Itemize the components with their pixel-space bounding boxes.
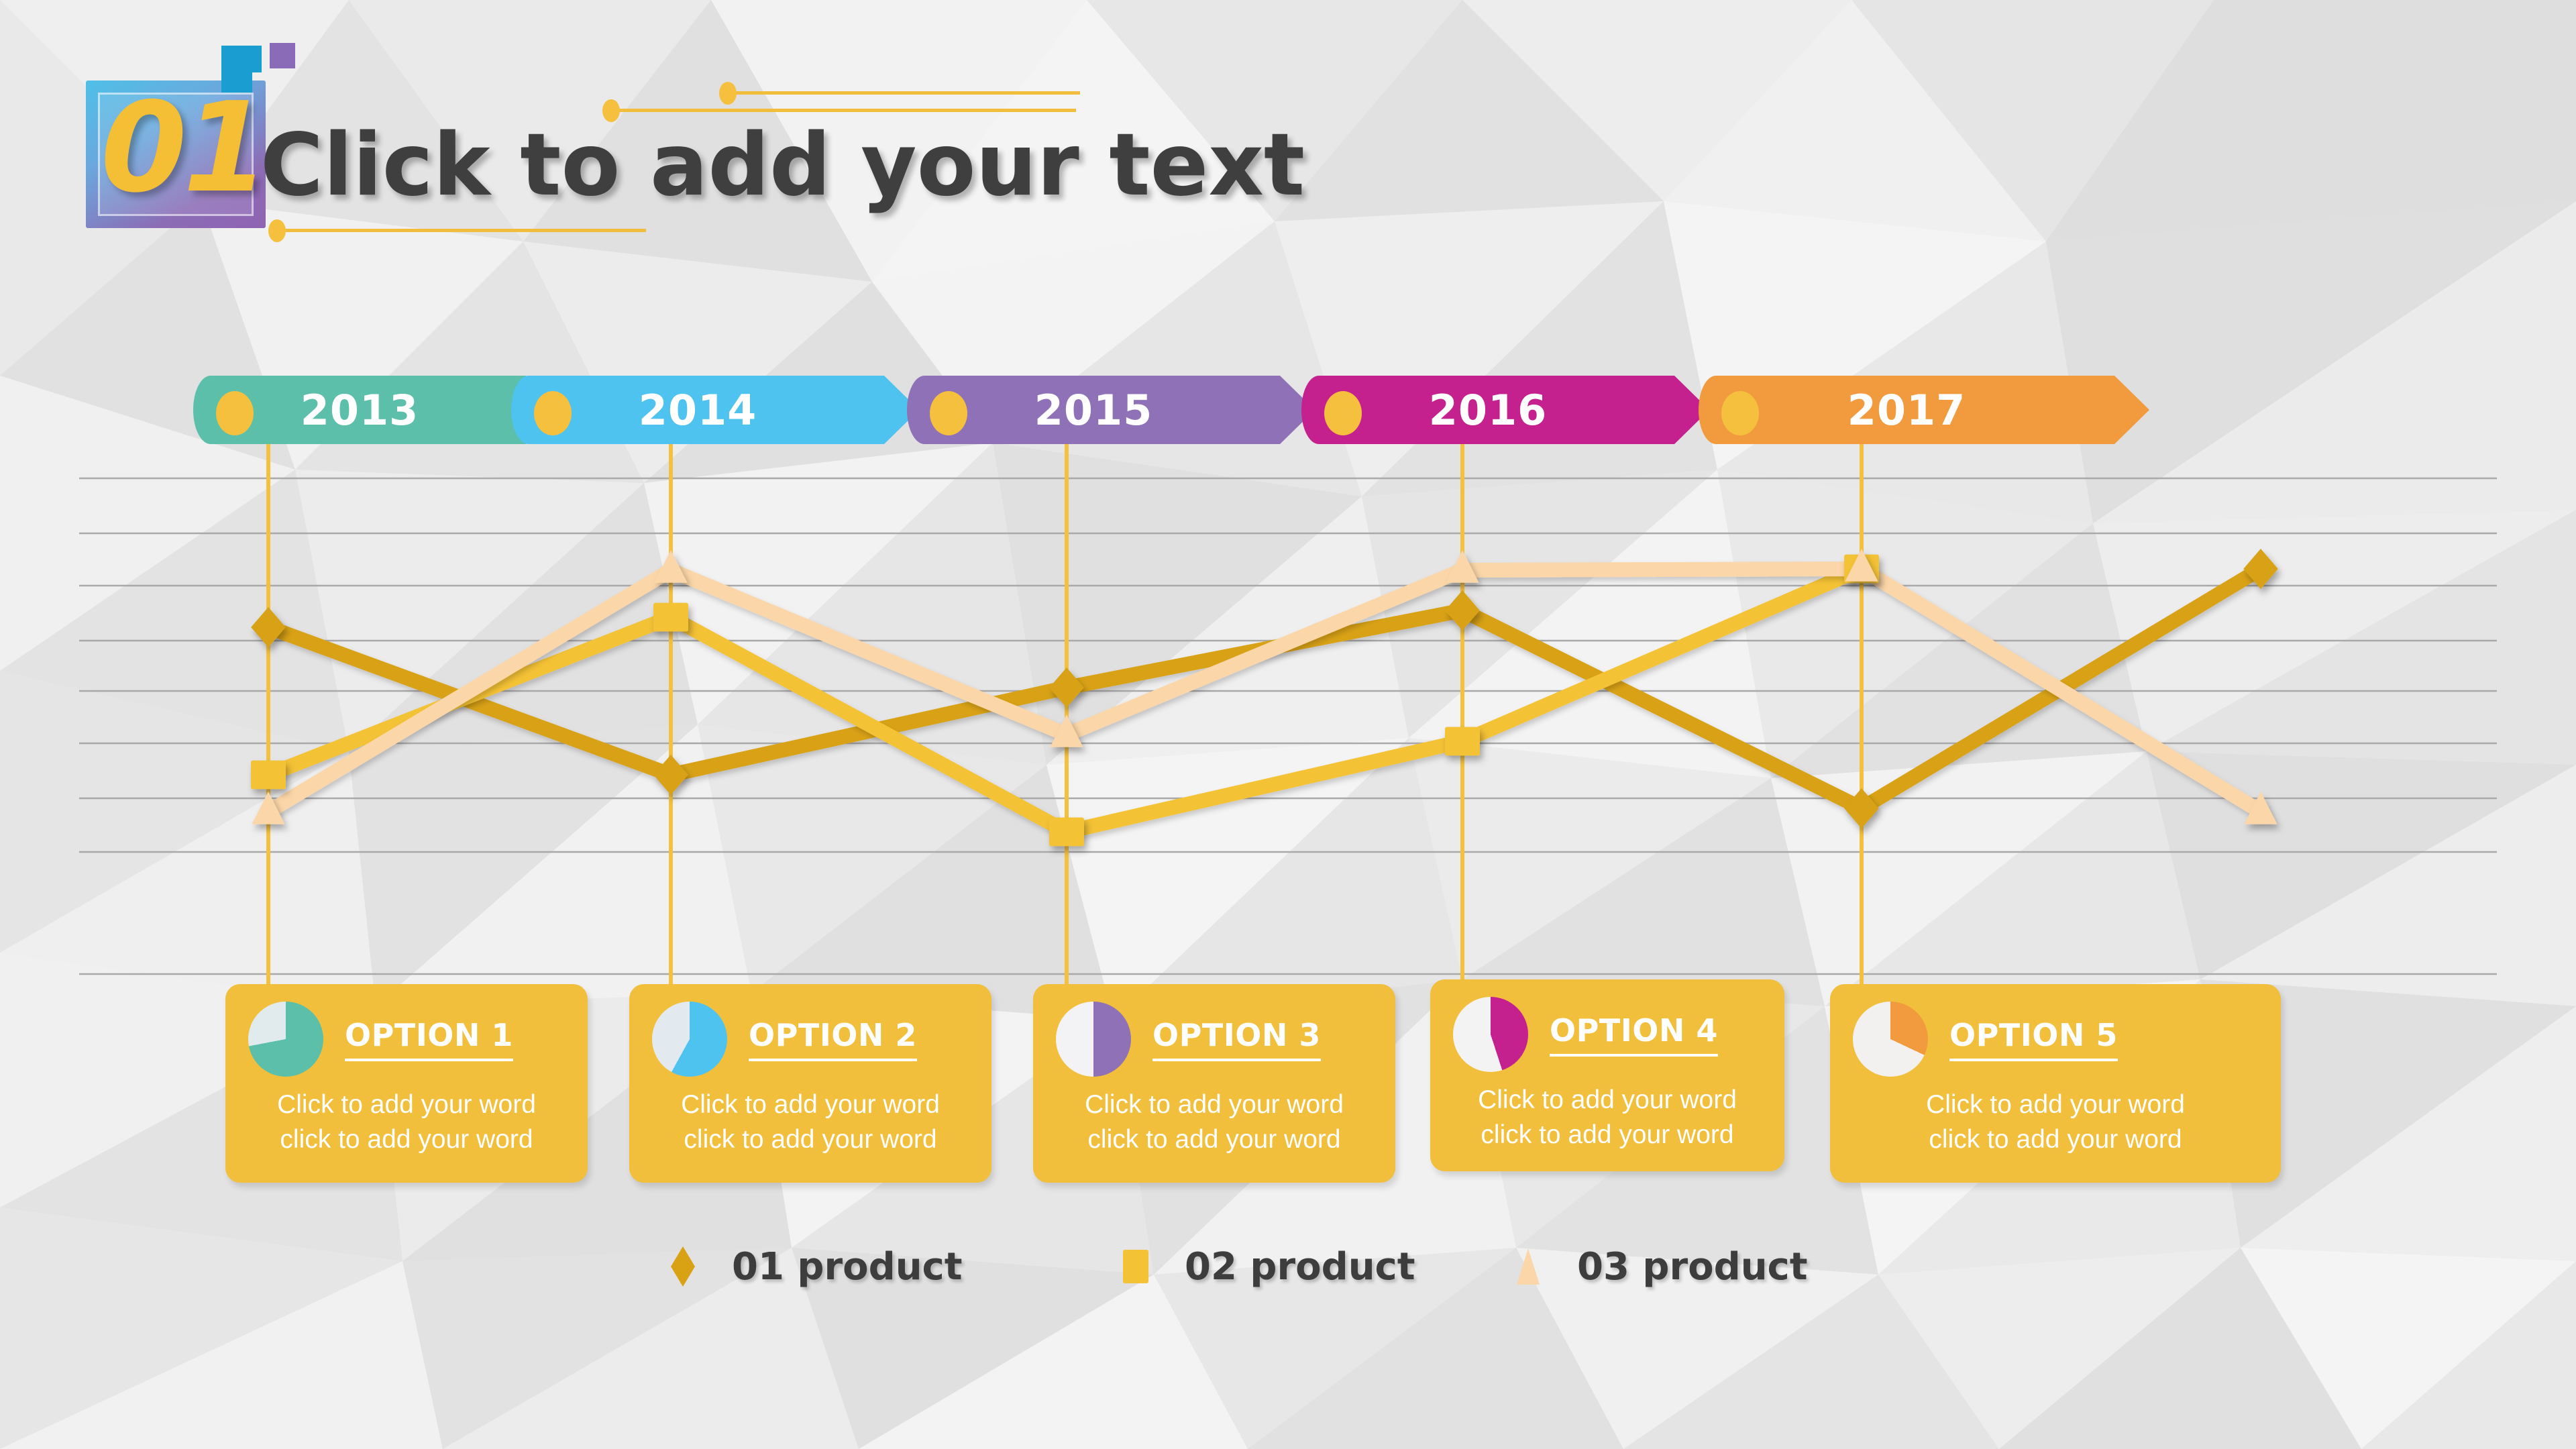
- option-card-header: OPTION 2: [629, 984, 991, 1077]
- option-title: OPTION 3: [1152, 1017, 1321, 1053]
- legend-marker-shape: [1517, 1248, 1540, 1285]
- series-line-1: [268, 569, 2261, 808]
- legend-item-3[interactable]: 03 product: [1506, 1244, 1808, 1289]
- option-body-text: Click to add your wordclick to add your …: [1033, 1087, 1395, 1157]
- option-title: OPTION 4: [1550, 1012, 1718, 1049]
- year-banner-2013[interactable]: 2013: [193, 376, 561, 444]
- option-body-line-1: Click to add your word: [1438, 1083, 1776, 1118]
- pie-chart-icon: [1453, 997, 1528, 1072]
- decor-square-purple-icon: [270, 43, 295, 68]
- line-chart: [0, 0, 2576, 1449]
- series-2-marker-3: [1445, 727, 1480, 756]
- year-banner-2016[interactable]: 2016: [1301, 376, 1709, 444]
- chart-series-markers: [251, 549, 2278, 846]
- number-badge-label: 01: [101, 86, 265, 210]
- series-2-marker-2: [1049, 818, 1084, 847]
- option-card-4[interactable]: OPTION 4Click to add your wordclick to a…: [1430, 979, 1784, 1171]
- year-banner-2015[interactable]: 2015: [907, 376, 1315, 444]
- option-title-underline: [1152, 1059, 1321, 1061]
- pie-chart-icon: [1853, 1002, 1928, 1077]
- option-title-group: OPTION 5: [1949, 1017, 2118, 1061]
- page-title: Click to add your text: [260, 123, 1305, 209]
- option-title-underline: [749, 1059, 917, 1061]
- option-body-line-1: Click to add your word: [1041, 1087, 1387, 1122]
- legend-label: 02 product: [1185, 1245, 1415, 1289]
- option-card-2[interactable]: OPTION 2Click to add your wordclick to a…: [629, 984, 991, 1183]
- option-card-1[interactable]: OPTION 1Click to add your wordclick to a…: [225, 984, 588, 1183]
- option-card-5[interactable]: OPTION 5Click to add your wordclick to a…: [1830, 984, 2281, 1183]
- pie-chart-icon: [652, 1002, 727, 1077]
- year-label: 2016: [1301, 376, 1674, 444]
- option-title-underline: [1550, 1054, 1718, 1057]
- option-title: OPTION 1: [345, 1017, 513, 1053]
- option-body-line-2: click to add your word: [637, 1122, 983, 1157]
- option-title-group: OPTION 1: [345, 1017, 513, 1061]
- option-body-text: Click to add your wordclick to add your …: [1830, 1087, 2281, 1157]
- option-title-underline: [1949, 1059, 2118, 1061]
- series-1-marker-1: [653, 755, 688, 795]
- series-2-marker-1: [653, 603, 688, 632]
- legend-marker-diamond-icon: [661, 1244, 705, 1289]
- option-body-line-2: click to add your word: [1838, 1122, 2273, 1157]
- slide-canvas: 01 Click to add your text 20132014201520…: [0, 0, 2576, 1449]
- decor-dot-upper-icon: [719, 82, 737, 105]
- pie-chart-icon: [1056, 1002, 1131, 1077]
- decor-dot-lower-icon: [268, 219, 286, 242]
- chart-series-lines: [268, 569, 2261, 832]
- option-card-header: OPTION 5: [1830, 984, 2281, 1077]
- year-banner-2017[interactable]: 2017: [1699, 376, 2149, 444]
- legend-marker-square-icon: [1114, 1244, 1158, 1289]
- legend-item-2[interactable]: 02 product: [1114, 1244, 1415, 1289]
- series-2-marker-0: [251, 761, 286, 790]
- option-body-line-1: Click to add your word: [1838, 1087, 2273, 1122]
- option-body-line-2: click to add your word: [1041, 1122, 1387, 1157]
- decor-dot-top-icon: [602, 99, 620, 122]
- decor-line-upper: [731, 91, 1080, 95]
- option-body-line-1: Click to add your word: [233, 1087, 580, 1122]
- legend-marker-shape: [671, 1246, 695, 1287]
- legend-label: 03 product: [1577, 1245, 1808, 1289]
- option-body-text: Click to add your wordclick to add your …: [225, 1087, 588, 1157]
- legend-label: 01 product: [732, 1245, 963, 1289]
- option-body-line-2: click to add your word: [1438, 1118, 1776, 1152]
- series-3-marker-1: [654, 550, 687, 583]
- year-label: 2017: [1699, 376, 2114, 444]
- decor-line-top: [614, 109, 1076, 112]
- option-title-group: OPTION 4: [1550, 1012, 1718, 1057]
- option-title-group: OPTION 2: [749, 1017, 917, 1061]
- legend-item-1[interactable]: 01 product: [661, 1244, 963, 1289]
- option-body-text: Click to add your wordclick to add your …: [629, 1087, 991, 1157]
- option-body-line-1: Click to add your word: [637, 1087, 983, 1122]
- option-title-group: OPTION 3: [1152, 1017, 1321, 1061]
- option-body-text: Click to add your wordclick to add your …: [1430, 1083, 1784, 1152]
- decor-square-blue-small-icon: [252, 46, 262, 72]
- option-card-header: OPTION 3: [1033, 984, 1395, 1077]
- option-title: OPTION 2: [749, 1017, 917, 1053]
- legend-marker-shape: [1123, 1250, 1148, 1283]
- option-card-header: OPTION 4: [1430, 979, 1784, 1072]
- chart-legend: 01 product02 product03 product: [0, 1244, 2576, 1332]
- decor-line-lower: [280, 229, 646, 232]
- option-body-line-2: click to add your word: [233, 1122, 580, 1157]
- pie-chart-icon: [248, 1002, 323, 1077]
- option-title-underline: [345, 1059, 513, 1061]
- year-label: 2013: [193, 376, 526, 444]
- option-card-header: OPTION 1: [225, 984, 588, 1077]
- year-label: 2015: [907, 376, 1280, 444]
- option-title: OPTION 5: [1949, 1017, 2118, 1053]
- legend-marker-triangle-icon: [1506, 1244, 1550, 1289]
- series-1-marker-2: [1049, 667, 1084, 708]
- year-banner-2014[interactable]: 2014: [511, 376, 919, 444]
- year-label: 2014: [511, 376, 884, 444]
- option-card-3[interactable]: OPTION 3Click to add your wordclick to a…: [1033, 984, 1395, 1183]
